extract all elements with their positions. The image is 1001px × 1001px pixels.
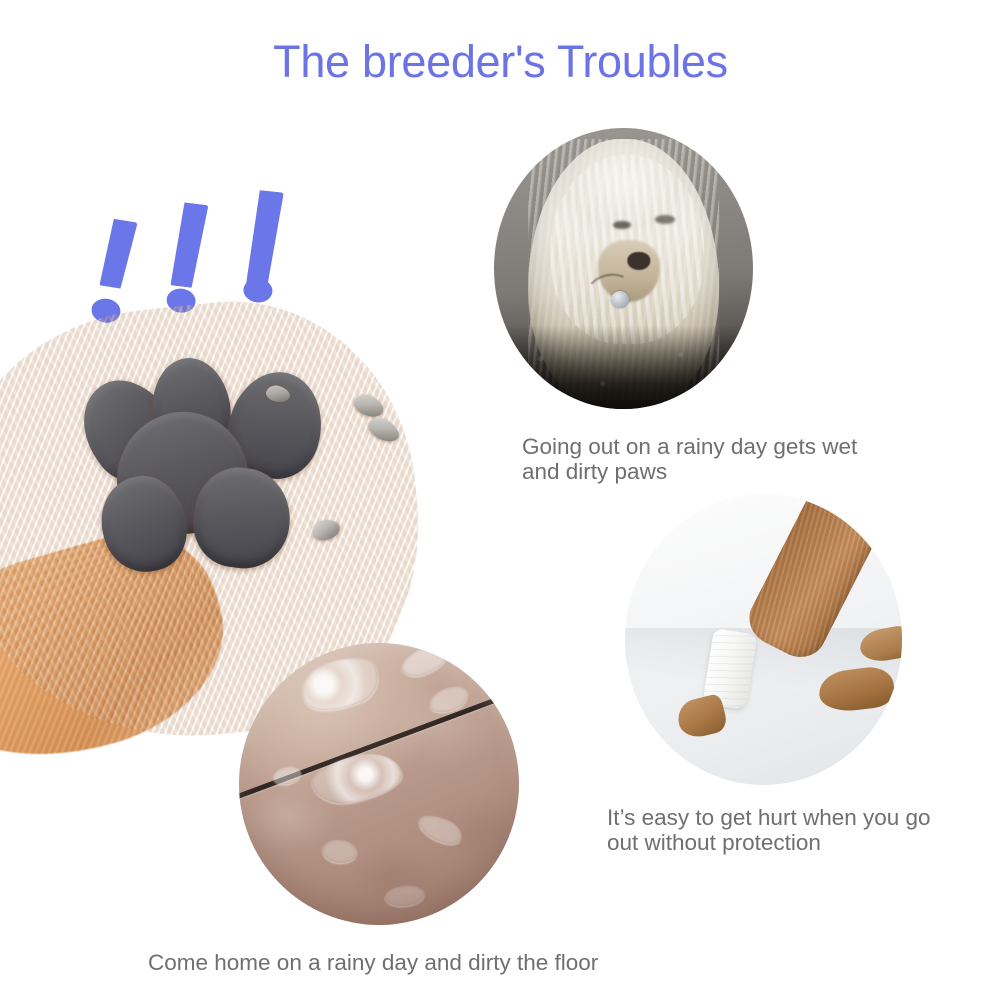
exclamation-stem — [99, 218, 137, 290]
dog-collar-tag — [611, 291, 629, 308]
caption-wet-floor: Come home on a rainy day and dirty the f… — [148, 950, 668, 975]
wet-asphalt-ground — [494, 325, 753, 409]
page-title: The breeder's Troubles — [0, 36, 1001, 88]
caption-wet-dog: Going out on a rainy day gets wet and di… — [522, 434, 894, 484]
caption-bandaged-leg: It’s easy to get hurt when you go out wi… — [607, 805, 957, 855]
bandaged-leg-photo — [625, 494, 902, 785]
exclamation-stem — [246, 190, 284, 288]
floor-vignette — [239, 643, 519, 925]
exclamation-marks-group — [95, 168, 325, 313]
wet-dog-photo — [494, 128, 753, 409]
exclamation-stem — [170, 202, 208, 289]
wet-floor-photo — [239, 643, 519, 925]
dog-eye-right — [655, 215, 676, 223]
promo-graphic: The breeder's Troubles — [0, 0, 1001, 1001]
